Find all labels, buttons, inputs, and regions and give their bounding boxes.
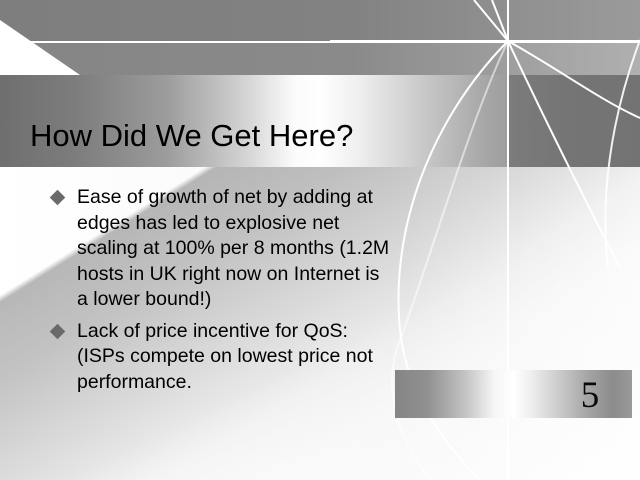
diamond-bullet-icon: [50, 190, 66, 206]
diamond-bullet-icon: [50, 323, 66, 339]
bullet-list: Ease of growth of net by adding at edges…: [52, 185, 392, 401]
top-gray-band-lower: [0, 43, 640, 75]
page-number: 5: [560, 374, 620, 418]
list-item: Lack of price incentive for QoS: (ISPs c…: [52, 319, 392, 396]
title-band-dark-slab: [508, 75, 640, 167]
bullet-text: Ease of growth of net by adding at edges…: [77, 185, 392, 313]
bullet-text: Lack of price incentive for QoS: (ISPs c…: [77, 319, 392, 396]
top-band-white-rule: [0, 41, 640, 43]
list-item: Ease of growth of net by adding at edges…: [52, 185, 392, 313]
slide-canvas: How Did We Get Here? Ease of growth of n…: [0, 0, 640, 480]
page-title: How Did We Get Here?: [30, 117, 353, 155]
